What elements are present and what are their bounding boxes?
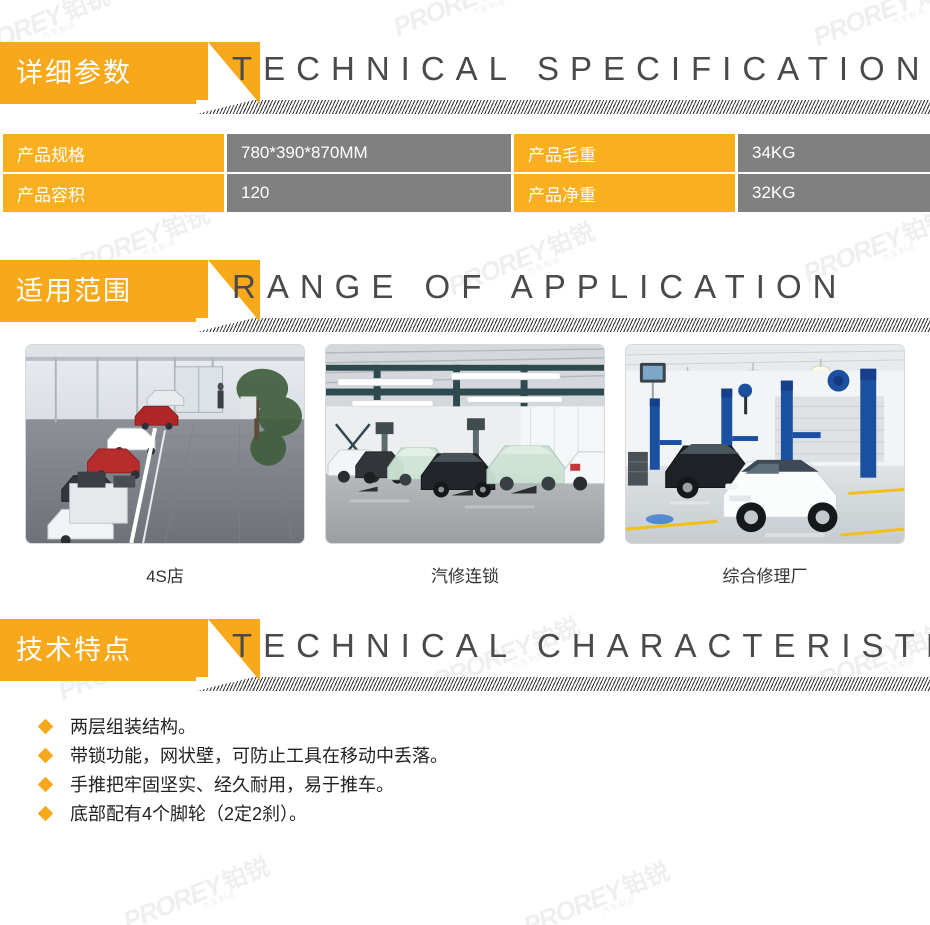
list-item-text: 两层组装结构。	[70, 717, 196, 737]
diamond-bullet-icon	[38, 806, 54, 822]
application-caption: 综合修理厂	[625, 562, 905, 587]
watermark-brand-en: PROREY	[119, 869, 226, 925]
spec-value: 34KG	[737, 133, 930, 173]
watermark-mark: PROREY铂锐 汽车制造	[119, 852, 275, 925]
table-row: 产品规格 780*390*870MM 产品毛重 34KG	[2, 133, 930, 173]
header-stripe-mask	[196, 100, 254, 114]
diamond-bullet-icon	[38, 719, 54, 735]
header-stripe-band	[196, 100, 930, 114]
repair-chain-workshop-illustration	[326, 345, 604, 543]
application-item: 4S店	[25, 344, 305, 587]
spec-value: 120	[226, 173, 513, 213]
application-photo-dealership-showroom[interactable]	[25, 344, 305, 544]
general-repair-shop-illustration	[626, 345, 904, 543]
spec-label: 产品容积	[2, 173, 226, 213]
spec-value: 32KG	[737, 173, 930, 213]
section-title-en: RANGE OF APPLICATION	[232, 268, 847, 306]
diamond-bullet-icon	[38, 777, 54, 793]
list-item-text: 带锁功能，网状壁，可防止工具在移动中丢落。	[70, 746, 448, 766]
specification-table: 产品规格 780*390*870MM 产品毛重 34KG 产品容积 120 产品…	[0, 132, 930, 214]
spec-label: 产品毛重	[513, 133, 737, 173]
list-item: 手推把牢固坚实、经久耐用，易于推车。	[38, 771, 930, 800]
characteristics-list: 两层组装结构。 带锁功能，网状壁，可防止工具在移动中丢落。 手推把牢固坚实、经久…	[0, 713, 930, 829]
watermark-mark: PROREY铂锐 汽车制造	[519, 857, 675, 925]
application-item: 汽修连锁	[325, 344, 605, 587]
watermark-sub: 汽车制造	[201, 875, 275, 911]
section-tag-label: 详细参数	[0, 42, 208, 104]
table-row: 产品容积 120 产品净重 32KG	[2, 173, 930, 213]
header-stripe-mask	[196, 318, 254, 332]
header-stripe-band	[196, 318, 930, 332]
application-photo-general-repair-shop[interactable]	[625, 344, 905, 544]
section-header-technical-characteristics: 技术特点 TECHNICAL CHARACTERISTICS	[0, 619, 930, 697]
section-title-en: TECHNICAL SPECIFICATION	[232, 50, 930, 88]
section-header-range-of-application: 适用范围 RANGE OF APPLICATION	[0, 260, 930, 338]
watermark-brand-cn: 铂锐	[219, 853, 274, 896]
header-stripe-mask	[196, 677, 254, 691]
watermark-brand-en: PROREY	[519, 874, 626, 925]
section-tag-label: 技术特点	[0, 619, 208, 681]
section-header-technical-specification: 详细参数 TECHNICAL SPECIFICATION	[0, 42, 930, 120]
list-item: 底部配有4个脚轮（2定2刹）。	[38, 800, 930, 829]
spec-label: 产品规格	[2, 133, 226, 173]
product-detail-page: 详细参数 TECHNICAL SPECIFICATION 产品规格 780*39…	[0, 0, 930, 829]
header-stripe-band	[196, 677, 930, 691]
section-tag-label: 适用范围	[0, 260, 208, 322]
application-gallery: 4S店	[0, 344, 930, 587]
application-caption: 4S店	[25, 562, 305, 587]
watermark-sub: 汽车制造	[601, 880, 675, 916]
dealership-showroom-illustration	[26, 345, 304, 543]
application-item: 综合修理厂	[625, 344, 905, 587]
application-photo-repair-chain-workshop[interactable]	[325, 344, 605, 544]
spec-value: 780*390*870MM	[226, 133, 513, 173]
list-item-text: 手推把牢固坚实、经久耐用，易于推车。	[70, 775, 394, 795]
list-item: 两层组装结构。	[38, 713, 930, 742]
spec-label: 产品净重	[513, 173, 737, 213]
list-item-text: 底部配有4个脚轮（2定2刹）。	[70, 804, 307, 824]
watermark-brand-cn: 铂锐	[619, 858, 674, 901]
list-item: 带锁功能，网状壁，可防止工具在移动中丢落。	[38, 742, 930, 771]
application-caption: 汽修连锁	[325, 562, 605, 587]
section-title-en: TECHNICAL CHARACTERISTICS	[232, 627, 930, 665]
diamond-bullet-icon	[38, 748, 54, 764]
